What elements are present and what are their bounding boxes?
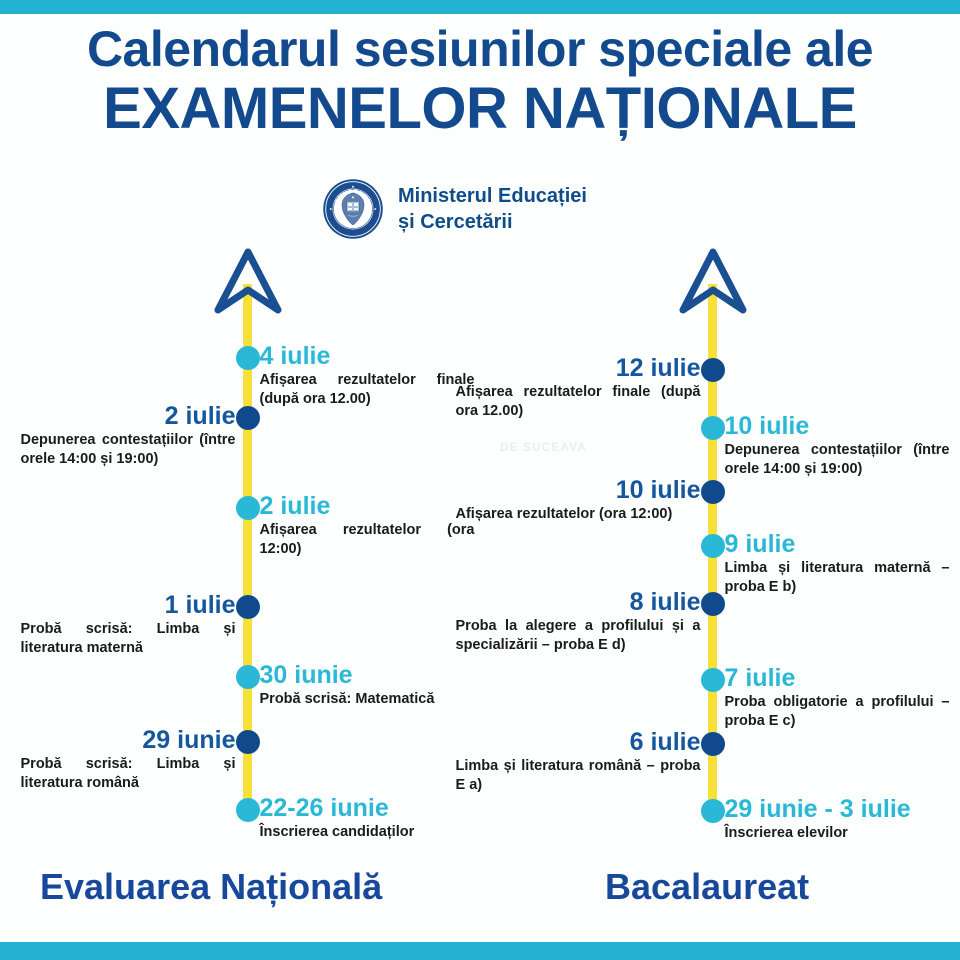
timeline-dot-evaluarea-nationala-6 — [236, 798, 260, 822]
timeline-dot-evaluarea-nationala-1 — [236, 406, 260, 430]
timeline-dot-bacalaureat-6 — [701, 732, 725, 756]
event-date: 4 iulie — [260, 343, 475, 370]
event-date: 10 iulie — [456, 477, 701, 504]
footer-label-evaluarea-nationala: Evaluarea Națională — [40, 866, 382, 908]
event-description: Afișarea rezultatelor finale (după ora 1… — [260, 371, 475, 409]
event-description: Înscrierea elevilor — [725, 824, 950, 843]
event-description: Proba obligatorie a profilului – proba E… — [725, 693, 950, 731]
event-date: 6 iulie — [456, 729, 701, 756]
timeline-dot-bacalaureat-4 — [701, 592, 725, 616]
event-description: Proba la alegere a profilului și a speci… — [456, 617, 701, 655]
timeline-dot-evaluarea-nationala-3 — [236, 595, 260, 619]
timeline-dot-bacalaureat-7 — [701, 799, 725, 823]
title-line-2: EXAMENELOR NAȚIONALE — [0, 78, 960, 140]
event-date: 7 iulie — [725, 665, 950, 692]
timeline-event-evaluarea-nationala-3: 1 iulieProbă scrisă: Limba și literatura… — [21, 592, 236, 658]
event-description: Limba și literatura română – proba E a) — [456, 757, 701, 795]
timeline-event-bacalaureat-4: 8 iulieProba la alegere a profilului și … — [456, 589, 701, 655]
event-description: Afișarea rezultatelor finale (după ora 1… — [456, 383, 701, 421]
event-date: 29 iunie — [21, 727, 236, 754]
timeline-dot-bacalaureat-0 — [701, 358, 725, 382]
timeline-event-bacalaureat-3: 9 iulieLimba și literatura maternă – pro… — [725, 531, 950, 597]
timeline-event-evaluarea-nationala-4: 30 iunieProbă scrisă: Matematică — [260, 662, 475, 709]
timeline-dot-bacalaureat-1 — [701, 416, 725, 440]
timeline-event-evaluarea-nationala-2: 2 iulieAfișarea rezultatelor (ora 12:00) — [260, 493, 475, 559]
timeline-dot-evaluarea-nationala-0 — [236, 346, 260, 370]
event-date: 1 iulie — [21, 592, 236, 619]
watermark-text: DE SUCEAVA — [500, 440, 587, 454]
timeline-dot-evaluarea-nationala-2 — [236, 496, 260, 520]
timeline-event-evaluarea-nationala-1: 2 iulieDepunerea contestațiilor (între o… — [21, 403, 236, 469]
event-date: 9 iulie — [725, 531, 950, 558]
event-date: 29 iunie - 3 iulie — [725, 796, 950, 823]
event-description: Limba și literatura maternă – proba E b) — [725, 559, 950, 597]
timeline-event-evaluarea-nationala-0: 4 iulieAfișarea rezultatelor finale (dup… — [260, 343, 475, 409]
event-description: Afișarea rezultatelor (ora 12:00) — [456, 505, 701, 524]
timeline-event-bacalaureat-6: 6 iulieLimba și literatura română – prob… — [456, 729, 701, 795]
footer-label-bacalaureat: Bacalaureat — [605, 866, 809, 908]
timeline-event-bacalaureat-7: 29 iunie - 3 iulieÎnscrierea elevilor — [725, 796, 950, 843]
timeline-event-bacalaureat-1: 10 iulieDepunerea contestațiilor (între … — [725, 413, 950, 479]
timeline-dot-bacalaureat-2 — [701, 480, 725, 504]
guvernul-romaniei-seal-icon: GUVERNUL ROMÂNIEI — [322, 178, 384, 240]
ministry-name-line-2: și Cercetării — [398, 209, 587, 235]
timeline-event-bacalaureat-2: 10 iulieAfișarea rezultatelor (ora 12:00… — [456, 477, 701, 524]
event-description: Probă scrisă: Limba și literatura matern… — [21, 620, 236, 658]
event-description: Depunerea contestațiilor (între orele 14… — [21, 431, 236, 469]
timeline-arrow-up-icon-right — [677, 246, 749, 318]
timeline-dot-bacalaureat-5 — [701, 668, 725, 692]
ministry-name-line-1: Ministerul Educației — [398, 183, 587, 209]
top-accent-bar — [0, 0, 960, 14]
ministry-branding: GUVERNUL ROMÂNIEI — [322, 178, 587, 240]
timeline-event-evaluarea-nationala-5: 29 iunieProbă scrisă: Limba și literatur… — [21, 727, 236, 793]
event-description: Probă scrisă: Limba și literatura română — [21, 755, 236, 793]
event-date: 10 iulie — [725, 413, 950, 440]
event-date: 22-26 iunie — [260, 795, 475, 822]
timeline-event-bacalaureat-0: 12 iulieAfișarea rezultatelor finale (du… — [456, 355, 701, 421]
event-description: Afișarea rezultatelor (ora 12:00) — [260, 521, 475, 559]
page-title: Calendarul sesiunilor speciale ale EXAME… — [0, 20, 960, 140]
timeline-dot-bacalaureat-3 — [701, 534, 725, 558]
timeline-dot-evaluarea-nationala-4 — [236, 665, 260, 689]
event-date: 2 iulie — [21, 403, 236, 430]
event-date: 30 iunie — [260, 662, 475, 689]
event-date: 12 iulie — [456, 355, 701, 382]
ministry-name: Ministerul Educației și Cercetării — [398, 183, 587, 235]
title-line-1: Calendarul sesiunilor speciale ale — [0, 20, 960, 78]
event-description: Probă scrisă: Matematică — [260, 690, 475, 709]
infographic-root: Calendarul sesiunilor speciale ale EXAME… — [0, 0, 960, 960]
timeline-event-bacalaureat-5: 7 iulieProba obligatorie a profilului – … — [725, 665, 950, 731]
timeline-arrow-up-icon-left — [212, 246, 284, 318]
timeline-dot-evaluarea-nationala-5 — [236, 730, 260, 754]
bottom-accent-bar — [0, 942, 960, 960]
event-date: 8 iulie — [456, 589, 701, 616]
event-date: 2 iulie — [260, 493, 475, 520]
timeline-event-evaluarea-nationala-6: 22-26 iunieÎnscrierea candidaților — [260, 795, 475, 842]
event-description: Înscrierea candidaților — [260, 823, 475, 842]
event-description: Depunerea contestațiilor (între orele 14… — [725, 441, 950, 479]
